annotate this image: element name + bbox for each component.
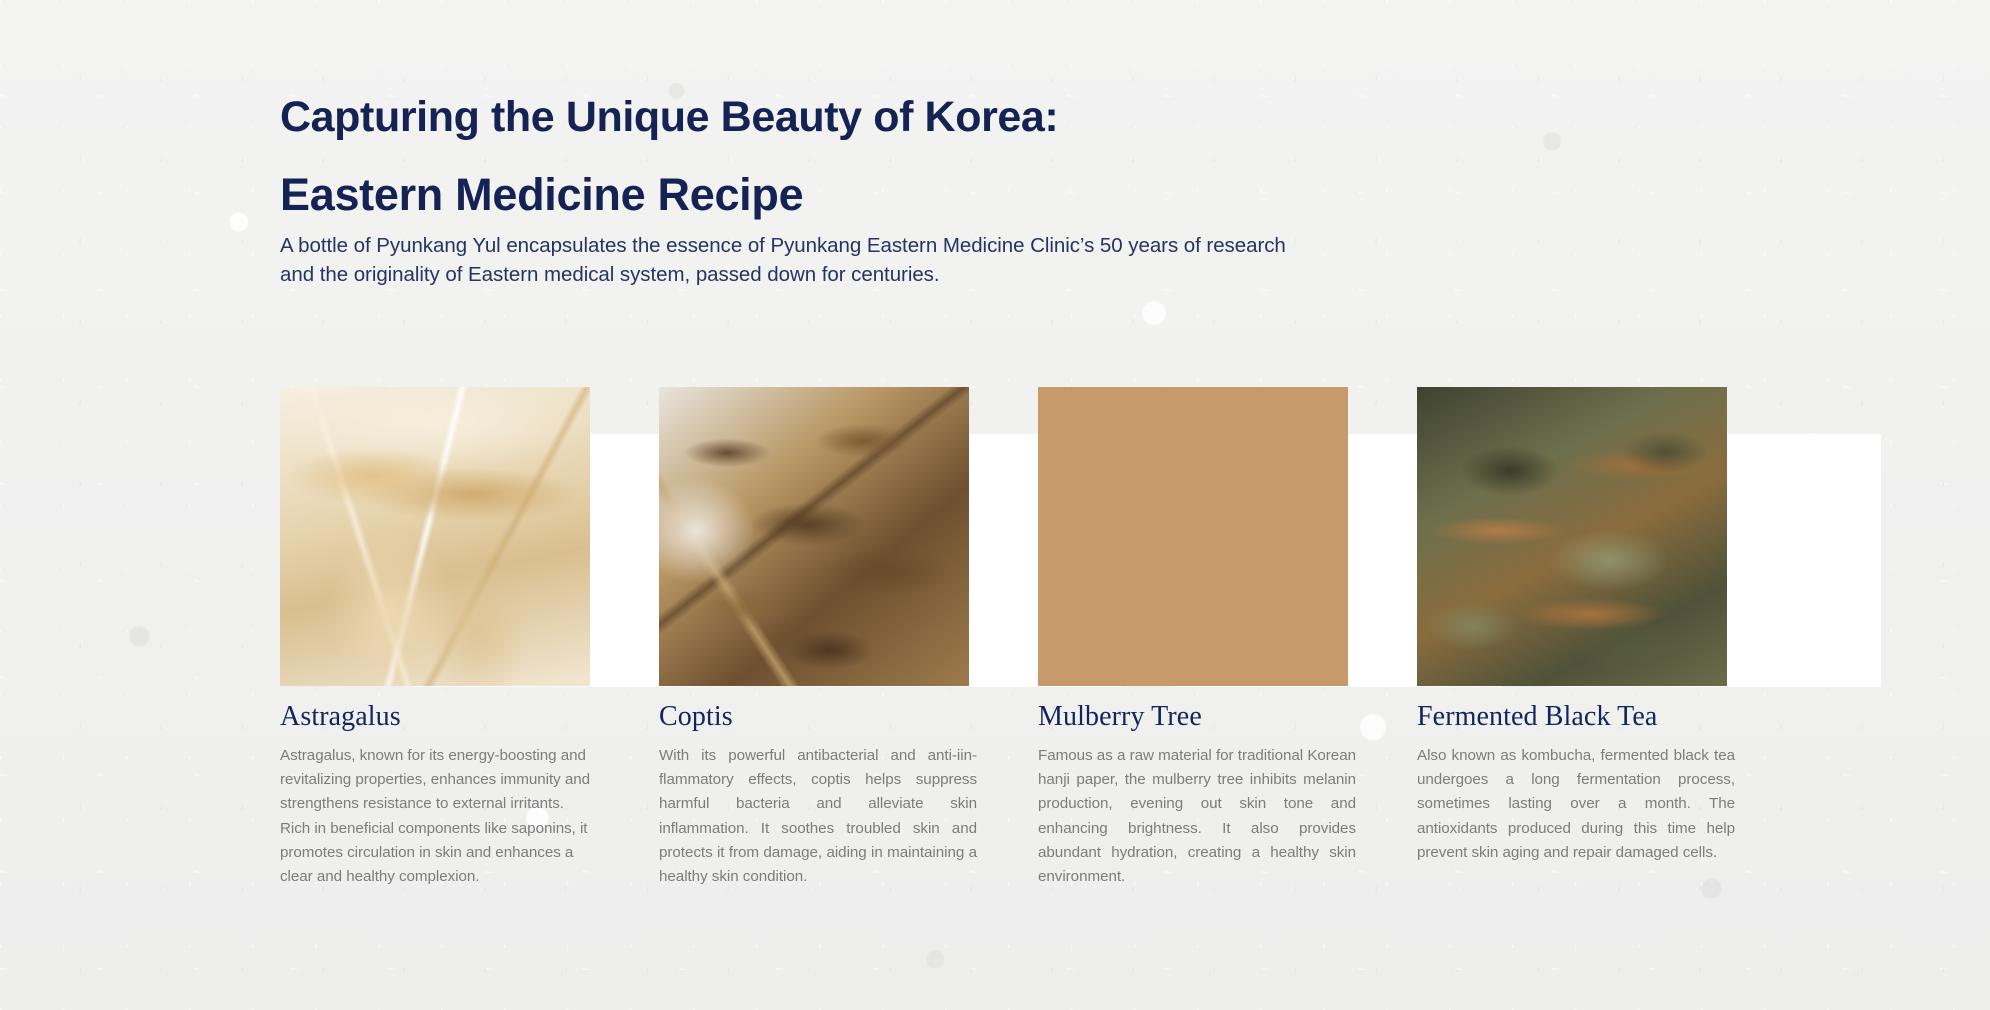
astragalus-root-photo xyxy=(280,387,590,686)
card-title: Coptis xyxy=(659,701,733,733)
ingredient-card-fermented-black-tea[interactable]: Fermented Black Tea Also known as kombuc… xyxy=(1417,387,1797,947)
ingredient-card-coptis[interactable]: Coptis With its powerful antibacterial a… xyxy=(659,387,1039,947)
ingredient-card-mulberry-tree[interactable]: Mulberry Tree Famous as a raw material f… xyxy=(1038,387,1418,947)
card-title: Mulberry Tree xyxy=(1038,701,1202,733)
card-description: Astragalus, known for its energy-boostin… xyxy=(280,744,598,889)
black-tea-leaves-photo xyxy=(1417,387,1727,686)
card-title: Astragalus xyxy=(280,701,401,733)
cinnamon-star-anise-photo xyxy=(1038,387,1348,686)
card-description: Also known as kombucha, fermented black … xyxy=(1417,744,1735,865)
ingredient-card-row: Astragalus Astragalus, known for its ene… xyxy=(0,0,1990,1010)
coptis-dried-root-photo xyxy=(659,387,969,686)
card-title: Fermented Black Tea xyxy=(1417,701,1657,733)
card-description: Famous as a raw material for traditional… xyxy=(1038,744,1356,889)
card-description: With its powerful antibacterial and anti… xyxy=(659,744,977,889)
ingredient-card-astragalus[interactable]: Astragalus Astragalus, known for its ene… xyxy=(280,387,660,947)
